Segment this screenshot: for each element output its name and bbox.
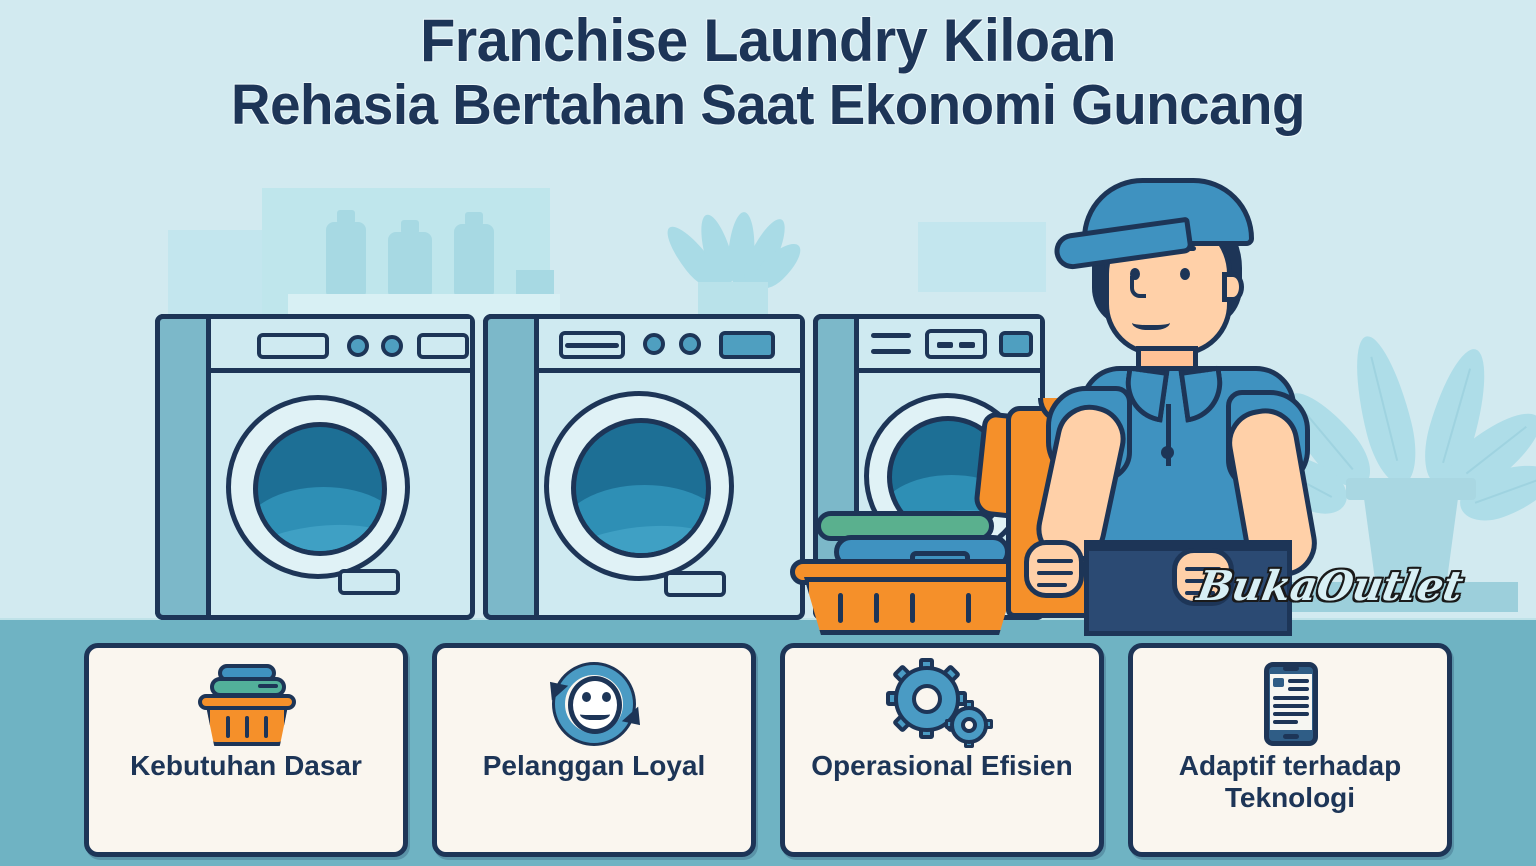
machine-2-button-right bbox=[719, 331, 775, 359]
machine-2-panel-line bbox=[565, 343, 619, 348]
feature-card-pelanggan-loyal[interactable]: Pelanggan Loyal bbox=[432, 643, 756, 857]
potted-plant-large bbox=[1288, 212, 1518, 612]
basket-slot-2 bbox=[874, 593, 879, 623]
feature-card-kebutuhan-dasar[interactable]: Kebutuhan Dasar bbox=[84, 643, 408, 857]
machine-1-drawer bbox=[338, 569, 400, 595]
title-line-1: Franchise Laundry Kiloan bbox=[31, 10, 1506, 72]
worker-hands-layer bbox=[1040, 168, 1320, 628]
feature-card-label: Kebutuhan Dasar bbox=[130, 750, 362, 782]
gears-icon bbox=[888, 662, 996, 748]
basket-slot-1 bbox=[838, 593, 843, 623]
machine-1-drum bbox=[253, 422, 387, 556]
machine-3-display-dash-1 bbox=[937, 342, 953, 348]
machine-2-drum bbox=[571, 418, 711, 558]
worker-hand-left bbox=[1024, 540, 1084, 598]
washing-machine-2 bbox=[483, 314, 805, 620]
laundry-basket-icon bbox=[192, 662, 300, 748]
machine-2-knob-b bbox=[679, 333, 701, 355]
poster-canvas: Franchise Laundry Kiloan Rehasia Bertaha… bbox=[0, 0, 1536, 866]
basket-slot-3 bbox=[910, 593, 915, 623]
machine-1-knob-b bbox=[381, 335, 403, 357]
potted-plant-small bbox=[640, 212, 820, 324]
feature-card-label: Adaptif terhadap Teknologi bbox=[1141, 750, 1439, 814]
feature-card-row: Kebutuhan Dasar Pelanggan Loyal bbox=[0, 643, 1536, 857]
feature-card-operasional-efisien[interactable]: Operasional Efisien bbox=[780, 643, 1104, 857]
bg-panel-right bbox=[918, 222, 1046, 292]
poster-title: Franchise Laundry Kiloan Rehasia Bertaha… bbox=[0, 10, 1536, 136]
machine-2-drawer bbox=[664, 571, 726, 597]
machine-2-knob-a bbox=[643, 333, 665, 355]
smartphone-icon bbox=[1236, 662, 1344, 748]
title-line-2: Rehasia Bertahan Saat Ekonomi Guncang bbox=[31, 76, 1506, 135]
machine-1-door-ring bbox=[226, 395, 410, 579]
loyalty-smiley-icon bbox=[540, 662, 648, 748]
basket-slot-4 bbox=[966, 593, 971, 623]
machine-2-control-panel bbox=[539, 319, 800, 373]
machine-3-line-1 bbox=[871, 333, 911, 338]
detergent-bottle-2 bbox=[388, 232, 432, 296]
feature-card-label: Pelanggan Loyal bbox=[483, 750, 706, 782]
machine-3-button bbox=[999, 331, 1033, 357]
machine-1-side bbox=[155, 314, 211, 620]
machine-2-door-ring bbox=[544, 391, 734, 581]
machine-3-control-panel bbox=[859, 319, 1040, 373]
washing-machine-1 bbox=[155, 314, 475, 620]
machine-3-display bbox=[925, 329, 987, 359]
machine-3-display-dash-2 bbox=[959, 342, 975, 348]
machine-1-control-panel bbox=[211, 319, 470, 373]
machine-2-side bbox=[483, 314, 539, 620]
feature-card-label: Operasional Efisien bbox=[811, 750, 1072, 782]
machine-3-line-2 bbox=[871, 349, 911, 354]
detergent-bottle-1 bbox=[326, 222, 366, 296]
brand-watermark: BukaOutlet bbox=[1194, 562, 1467, 610]
machine-1-button-right bbox=[417, 333, 469, 359]
bg-panel-left bbox=[168, 230, 264, 316]
machine-1-knob-a bbox=[347, 335, 369, 357]
feature-card-adaptif-teknologi[interactable]: Adaptif terhadap Teknologi bbox=[1128, 643, 1452, 857]
detergent-bottle-3 bbox=[454, 224, 494, 296]
machine-1-button-left bbox=[257, 333, 329, 359]
